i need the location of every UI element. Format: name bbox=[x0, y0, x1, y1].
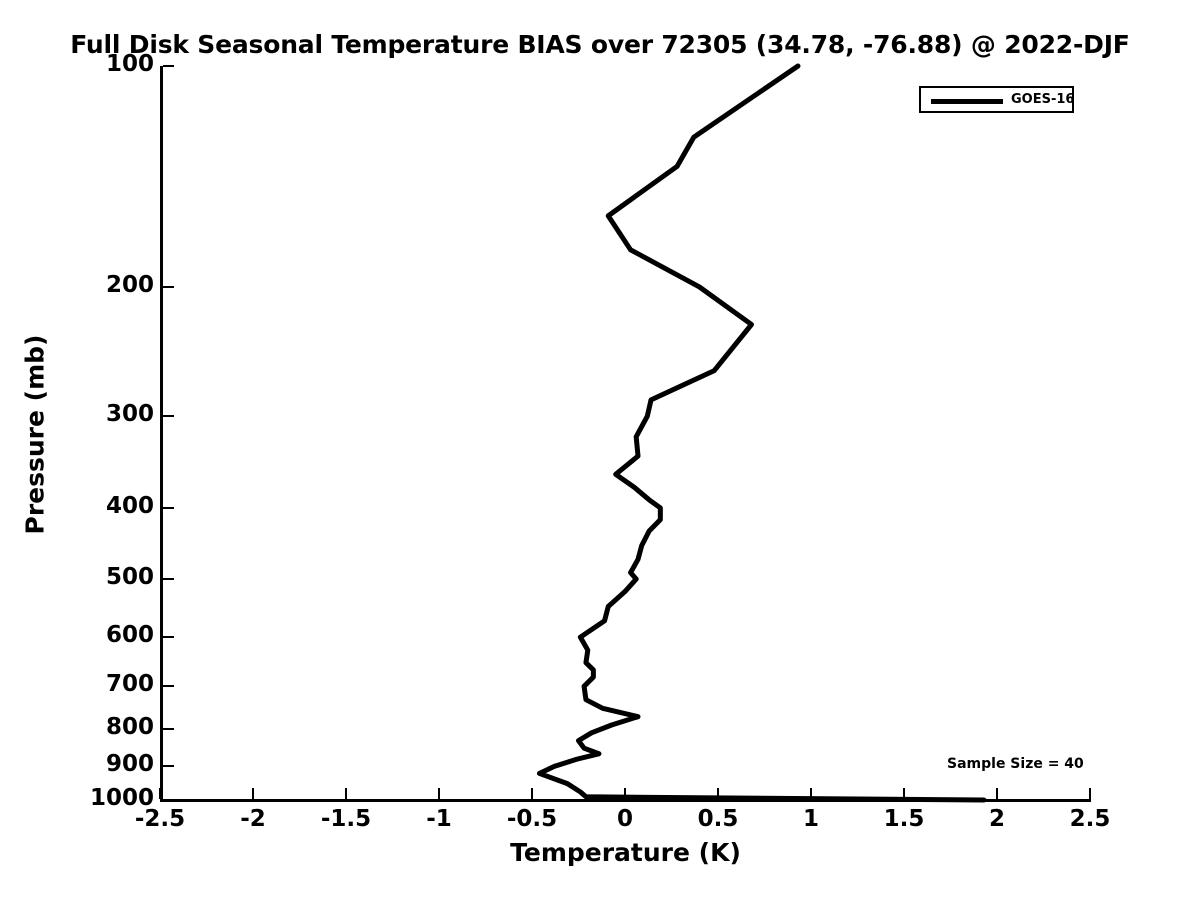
data-series-svg bbox=[160, 66, 1090, 800]
chart-title: Full Disk Seasonal Temperature BIAS over… bbox=[0, 30, 1200, 59]
y-tick-label: 700 bbox=[0, 671, 154, 697]
y-tick-label: 1000 bbox=[0, 785, 154, 811]
y-tick-label: 800 bbox=[0, 714, 154, 740]
chart-page: Full Disk Seasonal Temperature BIAS over… bbox=[0, 0, 1200, 900]
x-tick-label: 2.5 bbox=[1035, 806, 1145, 832]
data-line-goes-16 bbox=[539, 66, 984, 800]
legend: GOES-16 bbox=[919, 86, 1074, 113]
y-tick-label: 100 bbox=[0, 51, 154, 77]
legend-line-swatch bbox=[931, 99, 1003, 104]
x-axis-label: Temperature (K) bbox=[160, 838, 1091, 867]
y-axis-label: Pressure (mb) bbox=[21, 235, 50, 635]
y-tick-label: 900 bbox=[0, 751, 154, 777]
legend-item-label: GOES-16 bbox=[1011, 92, 1074, 107]
plot-area bbox=[160, 66, 1090, 800]
sample-size-annotation: Sample Size = 40 bbox=[947, 756, 1084, 772]
